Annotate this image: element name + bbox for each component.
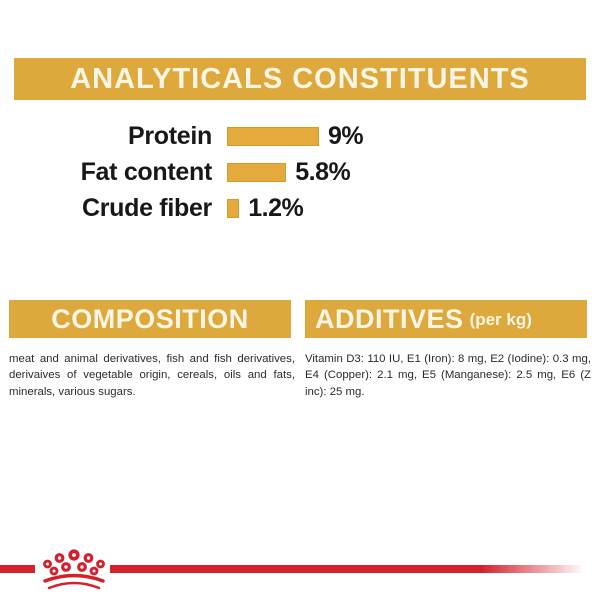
composition-banner-title: COMPOSITION (51, 306, 249, 333)
footer-rule-left (0, 565, 35, 573)
nutrient-label: Crude fiber (0, 196, 212, 221)
nutrient-row: Protein9% (0, 118, 600, 154)
footer-rule-right (110, 565, 585, 573)
nutrient-bar (227, 199, 239, 218)
additives-banner: ADDITIVES (per kg) (305, 300, 587, 338)
additives-text: Vitamin D3: 110 IU, E1 (Iron): 8 mg, E2 … (305, 351, 591, 400)
nutrient-row: Fat content5.8% (0, 154, 600, 190)
nutrient-row: Crude fiber1.2% (0, 190, 600, 226)
nutrient-value: 5.8% (295, 160, 350, 185)
nutrition-info-panel: ANALYTICALS CONSTITUENTS Protein9%Fat co… (0, 0, 600, 600)
footer-brand-strip (0, 520, 600, 600)
composition-text: meat and animal derivatives, fish and fi… (9, 351, 295, 400)
nutrient-bar-chart: Protein9%Fat content5.8%Crude fiber1.2% (0, 118, 600, 226)
additives-banner-title: ADDITIVES (315, 306, 464, 333)
nutrient-label: Fat content (0, 160, 212, 185)
nutrient-label: Protein (0, 124, 212, 149)
nutrient-value: 9% (328, 124, 363, 149)
nutrient-bar-cell (227, 199, 239, 218)
analyticals-banner-title: ANALYTICALS CONSTITUENTS (70, 65, 530, 94)
additives-per-kg-label: (per kg) (470, 311, 532, 328)
analyticals-constituents-banner: ANALYTICALS CONSTITUENTS (14, 58, 586, 100)
nutrient-bar-cell (227, 163, 286, 182)
royal-canin-crown-icon (40, 548, 108, 592)
nutrient-value: 1.2% (248, 196, 303, 221)
nutrient-bar (227, 163, 286, 182)
nutrient-bar (227, 127, 319, 146)
composition-banner: COMPOSITION (9, 300, 291, 338)
nutrient-bar-cell (227, 127, 319, 146)
